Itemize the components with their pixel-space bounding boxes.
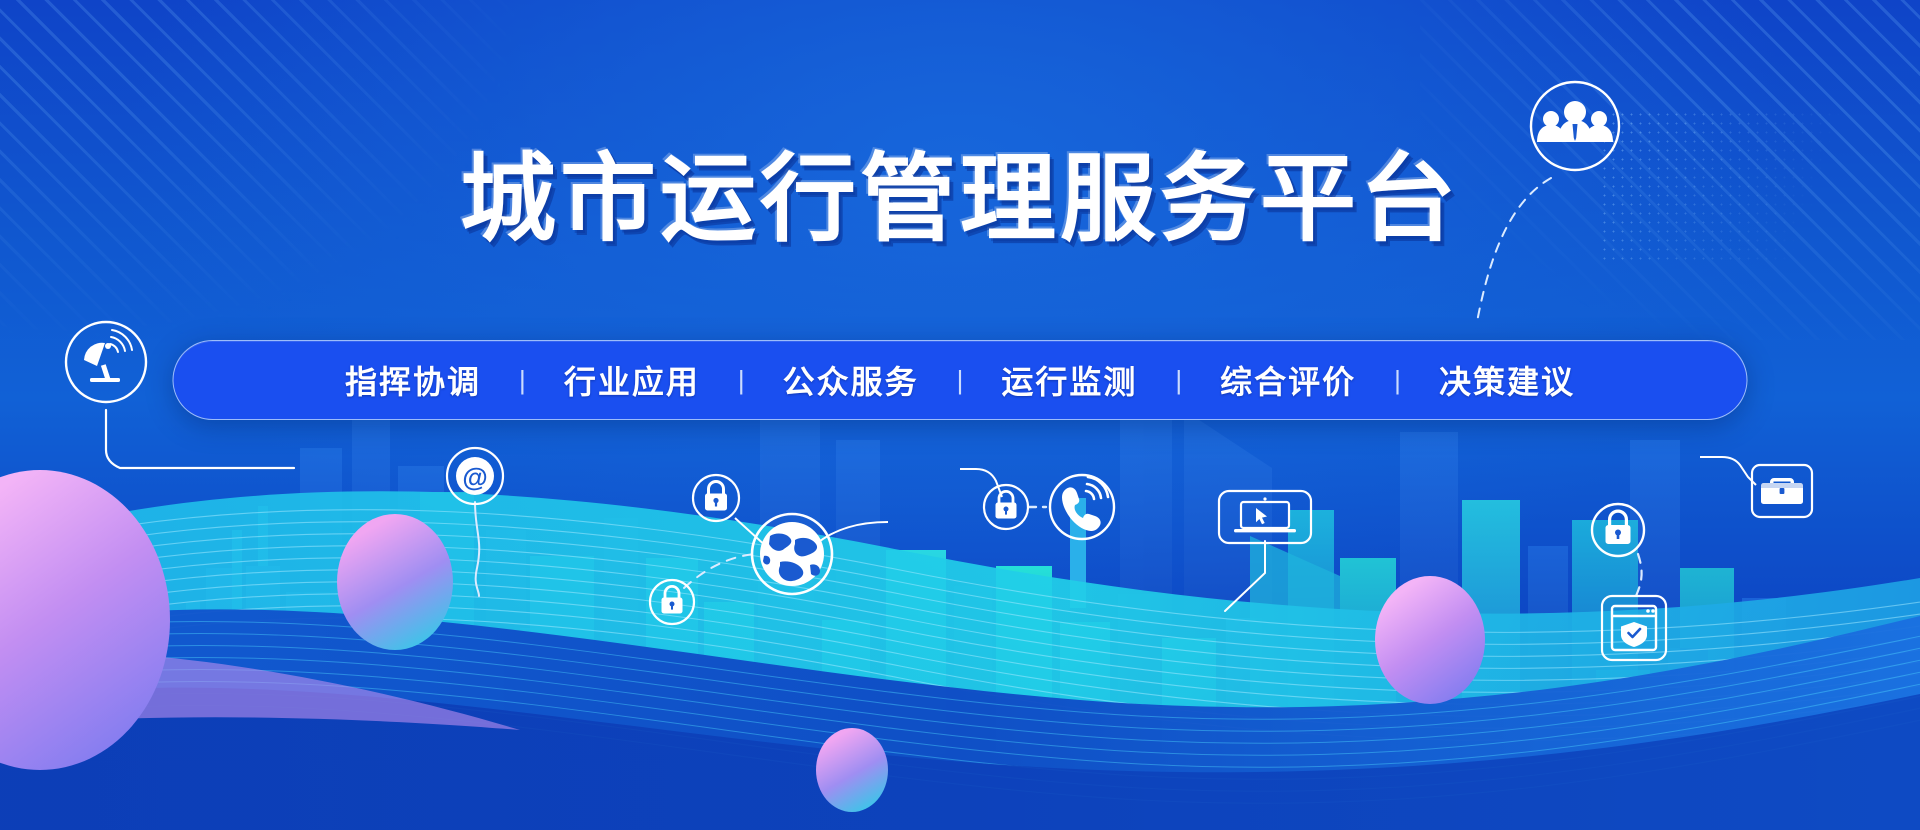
sphere-right — [1375, 576, 1485, 704]
laptop-cursor-icon[interactable] — [1215, 485, 1365, 615]
city-platform-banner: @ — [0, 0, 1920, 830]
page-title-wrap: 城市运行管理服务平台 — [0, 148, 1920, 252]
svg-text:@: @ — [462, 462, 487, 492]
nav-item-3[interactable]: 公众服务 — [749, 357, 953, 403]
hotline-cluster[interactable] — [960, 455, 1160, 585]
lock-icon-1 — [693, 475, 739, 521]
browser-shield-icon — [1602, 596, 1666, 660]
nav-separator: | — [953, 365, 968, 396]
nav-separator: | — [734, 365, 749, 396]
nav-item-5[interactable]: 综合评价 — [1186, 357, 1390, 403]
nav-item-2[interactable]: 行业应用 — [530, 357, 734, 403]
lock-icon-2 — [650, 580, 694, 624]
lock-icon-3 — [984, 485, 1028, 529]
page-title: 城市运行管理服务平台 — [460, 148, 1460, 252]
nav-item-1[interactable]: 指挥协调 — [311, 357, 515, 403]
phone-call-icon — [1050, 475, 1114, 539]
security-cluster[interactable] — [1580, 500, 1780, 680]
globe-network-cluster[interactable] — [640, 470, 940, 640]
nav-separator: | — [1171, 365, 1186, 396]
at-sign-icon[interactable]: @ — [435, 440, 525, 600]
nav-separator: | — [515, 365, 530, 396]
lock-icon-4 — [1592, 504, 1644, 556]
globe-icon — [752, 514, 832, 594]
nav-item-4[interactable]: 运行监测 — [967, 357, 1171, 403]
main-nav[interactable]: 指挥协调|行业应用|公众服务|运行监测|综合评价|决策建议 — [173, 340, 1748, 420]
nav-item-6[interactable]: 决策建议 — [1405, 357, 1609, 403]
sphere-bottom — [816, 728, 888, 812]
nav-separator: | — [1390, 365, 1405, 396]
